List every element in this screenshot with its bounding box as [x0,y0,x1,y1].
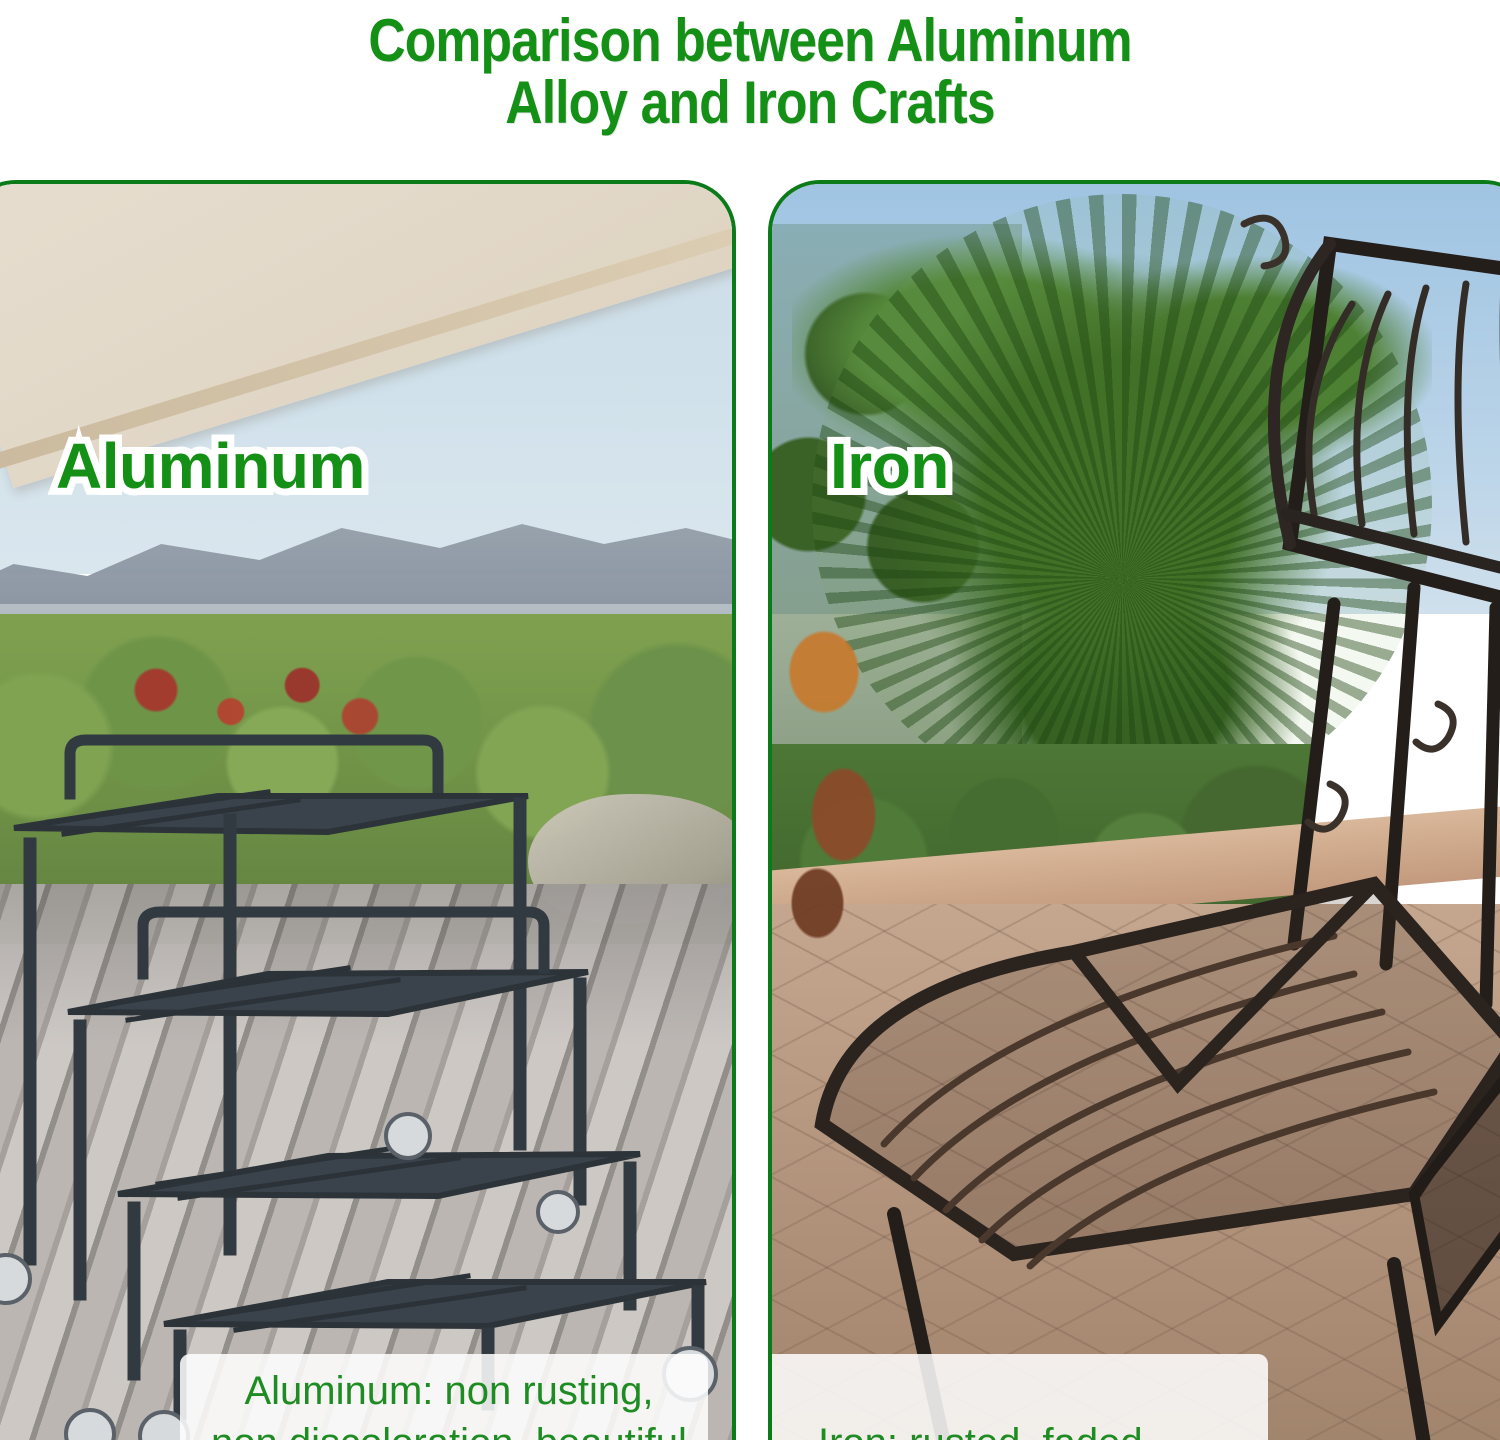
panel-label-aluminum: Aluminum [56,434,365,498]
panel-label-iron: Iron [830,434,949,498]
panel-iron[interactable]: Iron Iron: rusted, faded loose, and peri… [768,180,1500,1440]
panel-aluminum[interactable]: Aluminum Aluminum: non rusting, non disc… [0,180,736,1440]
aluminum-plant-stand-illustration [0,184,732,1440]
comparison-panels: Aluminum Aluminum: non rusting, non disc… [0,180,1500,1440]
caption-text-aluminum: Aluminum: non rusting, non discoloration… [208,1365,690,1440]
aluminum-photo [0,184,732,1440]
page-title-line-1: Comparison between Aluminum [105,10,1395,72]
caption-box-iron: Iron: rusted, faded loose, and perishabl… [772,1354,1268,1440]
page-title-line-2: Alloy and Iron Crafts [105,72,1395,134]
caption-text-iron: Iron: rusted, faded loose, and perishabl… [818,1417,1248,1440]
caption-box-aluminum: Aluminum: non rusting, non discoloration… [180,1354,708,1440]
iron-photo [772,184,1500,1440]
page-title: Comparison between Aluminum Alloy and Ir… [0,0,1500,134]
rusted-iron-stand-illustration [772,184,1500,1440]
